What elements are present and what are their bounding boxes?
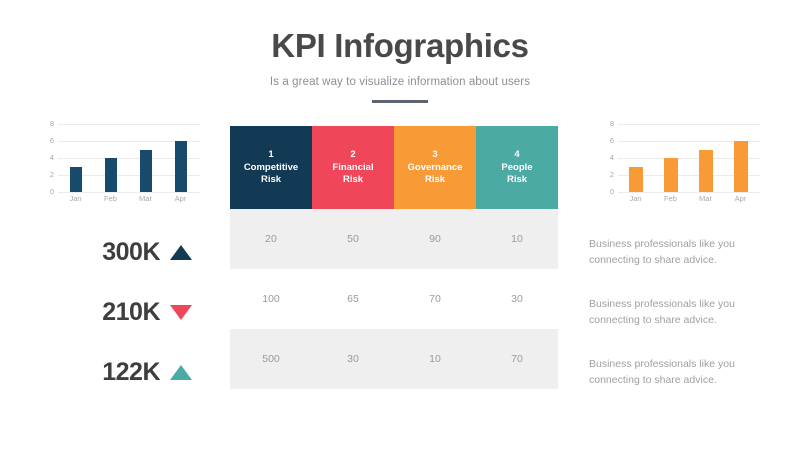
table-cell: 65: [312, 269, 394, 329]
header-number: 3: [432, 149, 437, 161]
table-row: 500301070: [230, 329, 558, 389]
chart-bar: [699, 150, 713, 193]
chart-gridline: [58, 192, 200, 193]
header-label-line2: Risk: [343, 174, 363, 186]
chart-bar: [664, 158, 678, 192]
header-number: 4: [514, 149, 519, 161]
description-text: Business professionals like you connecti…: [589, 236, 769, 268]
table-cell: 50: [312, 209, 394, 269]
chart-bar-slot: [128, 124, 163, 192]
chart-x-label: Mar: [688, 194, 723, 204]
chart-bar: [629, 167, 643, 193]
kpi-row: 122K: [40, 342, 200, 402]
left-bar-chart: 86420 JanFebMarApr: [40, 124, 200, 214]
chart-bar-slot: [723, 124, 758, 192]
kpi-value: 210K: [102, 298, 160, 327]
chart-bar-slot: [163, 124, 198, 192]
table-cell: 10: [394, 329, 476, 389]
chart-bar: [140, 150, 152, 193]
kpi-value: 300K: [102, 238, 160, 267]
description-text: Business professionals like you connecti…: [589, 356, 769, 388]
table-cell: 10: [476, 209, 558, 269]
trend-up-icon: [170, 245, 192, 260]
header-label-line2: Risk: [261, 174, 281, 186]
description-row: Business professionals like you connecti…: [589, 342, 769, 402]
chart-x-label: Mar: [128, 194, 163, 204]
chart-y-tick: 4: [600, 154, 614, 162]
chart-y-tick: 8: [40, 120, 54, 128]
table-cell: 100: [230, 269, 312, 329]
table-row: 20509010: [230, 209, 558, 269]
chart-x-label: Feb: [93, 194, 128, 204]
risk-table-header: 1CompetitiveRisk2FinancialRisk3Governanc…: [230, 126, 558, 209]
chart-x-label: Feb: [653, 194, 688, 204]
risk-table-header-cell[interactable]: 3GovernanceRisk: [394, 126, 476, 209]
chart-bar-slot: [653, 124, 688, 192]
chart-bar-slot: [618, 124, 653, 192]
chart-bar-slot: [688, 124, 723, 192]
header-label-line1: Competitive: [244, 162, 298, 174]
table-cell: 70: [394, 269, 476, 329]
table-cell: 30: [476, 269, 558, 329]
page-title: KPI Infographics: [0, 26, 800, 66]
chart-y-tick: 2: [600, 171, 614, 179]
header-number: 2: [350, 149, 355, 161]
chart-x-label: Jan: [58, 194, 93, 204]
chart-bar: [105, 158, 117, 192]
header-label-line2: Risk: [507, 174, 527, 186]
trend-up-icon: [170, 365, 192, 380]
table-cell: 20: [230, 209, 312, 269]
chart-bar-slot: [93, 124, 128, 192]
page-header: KPI Infographics Is a great way to visua…: [0, 26, 800, 103]
risk-table-header-cell[interactable]: 2FinancialRisk: [312, 126, 394, 209]
description-row: Business professionals like you connecti…: [589, 282, 769, 342]
chart-x-label: Jan: [618, 194, 653, 204]
chart-y-tick: 0: [600, 188, 614, 196]
trend-down-icon: [170, 305, 192, 320]
header-label-line2: Risk: [425, 174, 445, 186]
table-cell: 90: [394, 209, 476, 269]
left-chart-bars: [58, 124, 198, 192]
header-label-line1: People: [501, 162, 532, 174]
description-list: Business professionals like you connecti…: [589, 222, 769, 402]
table-cell: 500: [230, 329, 312, 389]
left-chart-xlabels: JanFebMarApr: [58, 194, 198, 204]
chart-bar-slot: [58, 124, 93, 192]
chart-y-tick: 4: [40, 154, 54, 162]
title-divider: [372, 100, 428, 103]
risk-table-header-cell[interactable]: 4PeopleRisk: [476, 126, 558, 209]
chart-bar: [175, 141, 187, 192]
risk-table-header-cell[interactable]: 1CompetitiveRisk: [230, 126, 312, 209]
chart-x-label: Apr: [723, 194, 758, 204]
right-chart-xlabels: JanFebMarApr: [618, 194, 758, 204]
chart-y-tick: 8: [600, 120, 614, 128]
kpi-value: 122K: [102, 358, 160, 387]
table-cell: 70: [476, 329, 558, 389]
right-bar-chart: 86420 JanFebMarApr: [600, 124, 760, 214]
chart-y-tick: 0: [40, 188, 54, 196]
table-row: 100657030: [230, 269, 558, 329]
chart-bar: [70, 167, 82, 193]
header-number: 1: [268, 149, 273, 161]
header-label-line1: Governance: [408, 162, 463, 174]
kpi-list: 300K210K122K: [40, 222, 200, 402]
page-subtitle: Is a great way to visualize information …: [0, 74, 800, 90]
chart-bar: [734, 141, 748, 192]
kpi-row: 300K: [40, 222, 200, 282]
description-text: Business professionals like you connecti…: [589, 296, 769, 328]
chart-y-tick: 6: [600, 137, 614, 145]
chart-y-tick: 2: [40, 171, 54, 179]
kpi-row: 210K: [40, 282, 200, 342]
chart-gridline: [618, 192, 760, 193]
chart-x-label: Apr: [163, 194, 198, 204]
chart-y-tick: 6: [40, 137, 54, 145]
header-label-line1: Financial: [332, 162, 373, 174]
risk-table-body: 20509010100657030500301070: [230, 209, 558, 389]
description-row: Business professionals like you connecti…: [589, 222, 769, 282]
risk-table: 1CompetitiveRisk2FinancialRisk3Governanc…: [230, 126, 558, 389]
table-cell: 30: [312, 329, 394, 389]
right-chart-bars: [618, 124, 758, 192]
